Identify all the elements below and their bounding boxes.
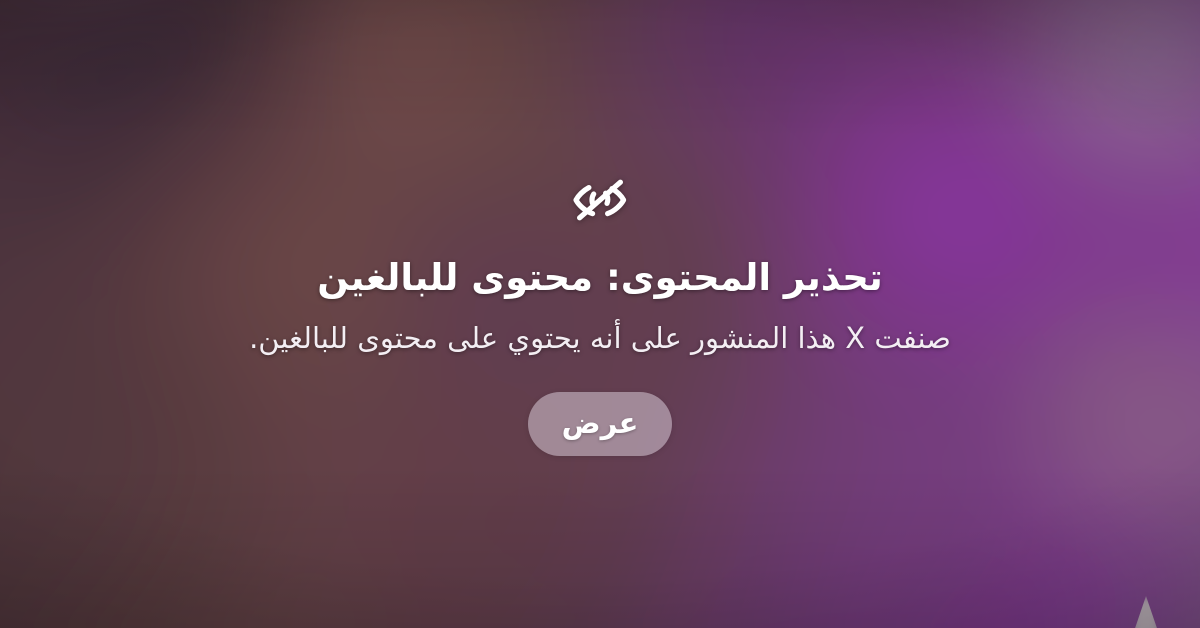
warning-overlay: تحذير المحتوى: محتوى للبالغين صنفت X هذا… (0, 0, 1200, 628)
content-warning-overlay-screen: تحذير المحتوى: محتوى للبالغين صنفت X هذا… (0, 0, 1200, 628)
eye-off-icon (567, 172, 633, 228)
page-title: تحذير المحتوى: محتوى للبالغين (317, 256, 883, 300)
warning-content: تحذير المحتوى: محتوى للبالغين صنفت X هذا… (220, 172, 980, 455)
view-button[interactable]: عرض (528, 392, 673, 456)
warning-description: صنفت X هذا المنشور على أنه يحتوي على محت… (249, 320, 951, 358)
